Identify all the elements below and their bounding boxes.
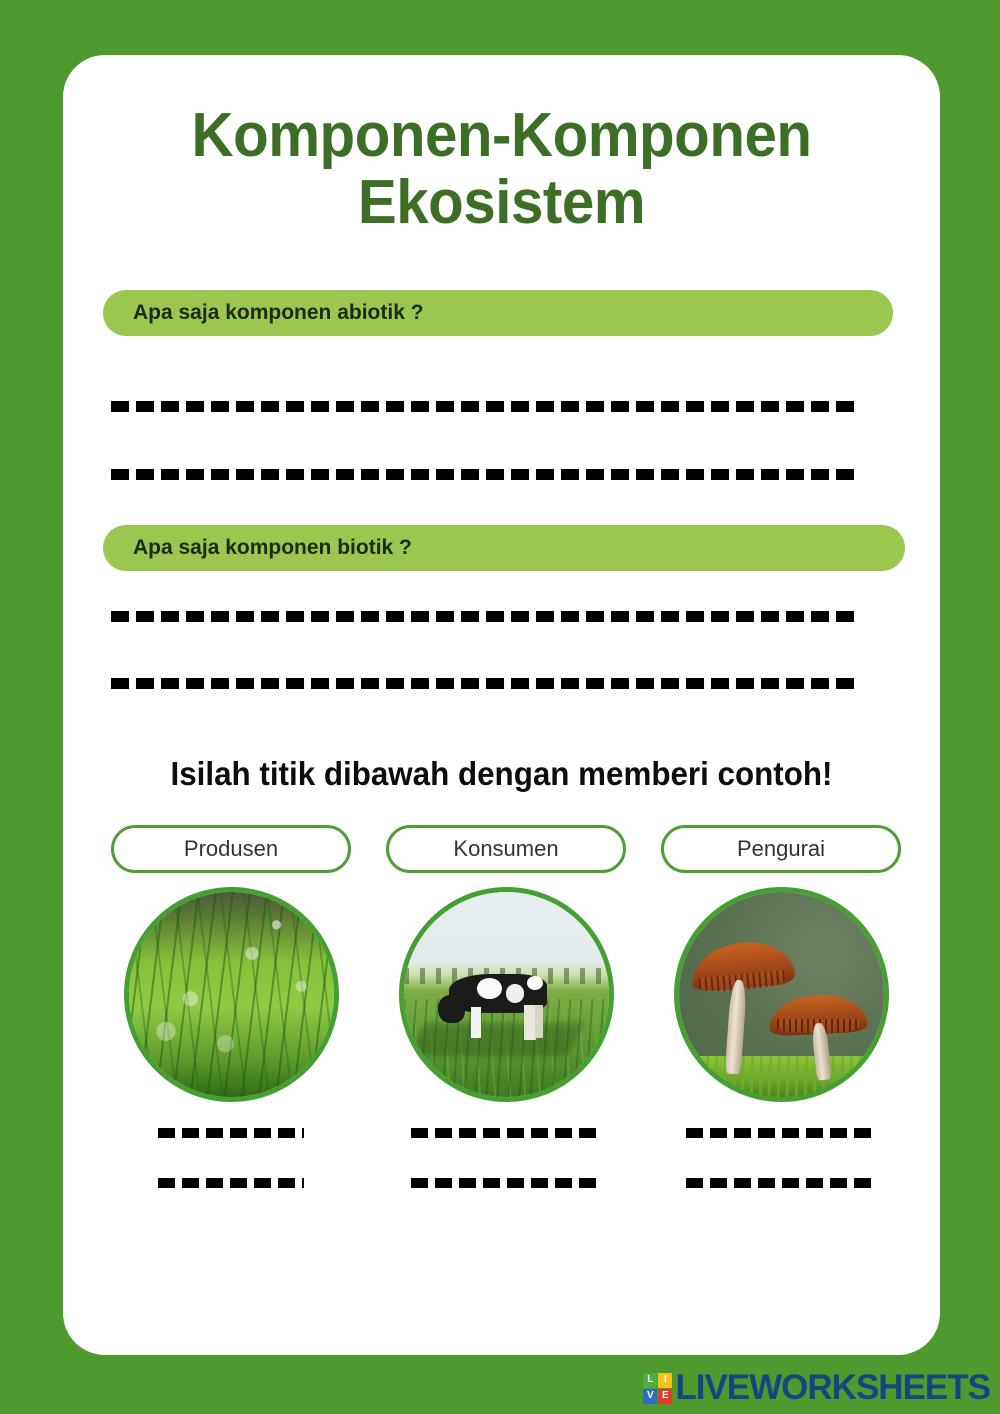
category-pill-produsen[interactable]: Produsen: [111, 825, 351, 873]
liveworksheets-wordmark: LIVEWORKSHEETS: [675, 1368, 990, 1408]
grass-with-dew-photo: [124, 887, 339, 1102]
live-tile-e: E: [658, 1389, 672, 1404]
example-column-pengurai: Pengurai: [661, 825, 901, 1188]
live-tile-v: V: [643, 1389, 657, 1404]
answer-line-produsen-2[interactable]: [158, 1178, 304, 1188]
category-pill-konsumen[interactable]: Konsumen: [386, 825, 626, 873]
worksheet-card: Komponen-Komponen Ekosistem Apa saja kom…: [63, 55, 940, 1355]
question-bar-abiotik: Apa saja komponen abiotik ?: [103, 290, 893, 336]
instruction-text: Isilah titik dibawah dengan memberi cont…: [85, 755, 918, 793]
answer-line-biotik-1[interactable]: [111, 611, 859, 622]
answer-line-abiotik-1[interactable]: [111, 401, 859, 412]
question-bar-biotik: Apa saja komponen biotik ?: [103, 525, 905, 571]
category-label-pengurai: Pengurai: [737, 836, 825, 862]
answer-lines-pengurai: [661, 1128, 901, 1188]
live-tiles-icon: L I V E: [643, 1373, 672, 1404]
brown-mushrooms-on-moss-photo: [674, 887, 889, 1102]
answer-line-pengurai-2[interactable]: [686, 1178, 876, 1188]
answer-line-produsen-1[interactable]: [158, 1128, 304, 1138]
category-label-produsen: Produsen: [184, 836, 278, 862]
question-label-biotik: Apa saja komponen biotik ?: [133, 536, 412, 560]
answer-line-biotik-2[interactable]: [111, 678, 861, 689]
answer-line-abiotik-2[interactable]: [111, 469, 859, 480]
live-tile-l: L: [643, 1373, 657, 1388]
example-column-konsumen: Konsumen: [386, 825, 626, 1188]
answer-line-konsumen-1[interactable]: [411, 1128, 601, 1138]
cow-grazing-in-field-photo: [399, 887, 614, 1102]
answer-lines-produsen: [111, 1128, 351, 1188]
example-column-produsen: Produsen: [111, 825, 351, 1188]
question-label-abiotik: Apa saja komponen abiotik ?: [133, 301, 424, 325]
answer-line-konsumen-2[interactable]: [411, 1178, 601, 1188]
page-title: Komponen-Komponen Ekosistem: [89, 55, 913, 237]
examples-row: Produsen Konsumen: [111, 825, 901, 1188]
liveworksheets-logo[interactable]: L I V E LIVEWORKSHEETS: [643, 1368, 990, 1408]
category-label-konsumen: Konsumen: [453, 836, 558, 862]
category-pill-pengurai[interactable]: Pengurai: [661, 825, 901, 873]
live-tile-i: I: [658, 1373, 672, 1388]
answer-lines-konsumen: [386, 1128, 626, 1188]
answer-line-pengurai-1[interactable]: [686, 1128, 876, 1138]
